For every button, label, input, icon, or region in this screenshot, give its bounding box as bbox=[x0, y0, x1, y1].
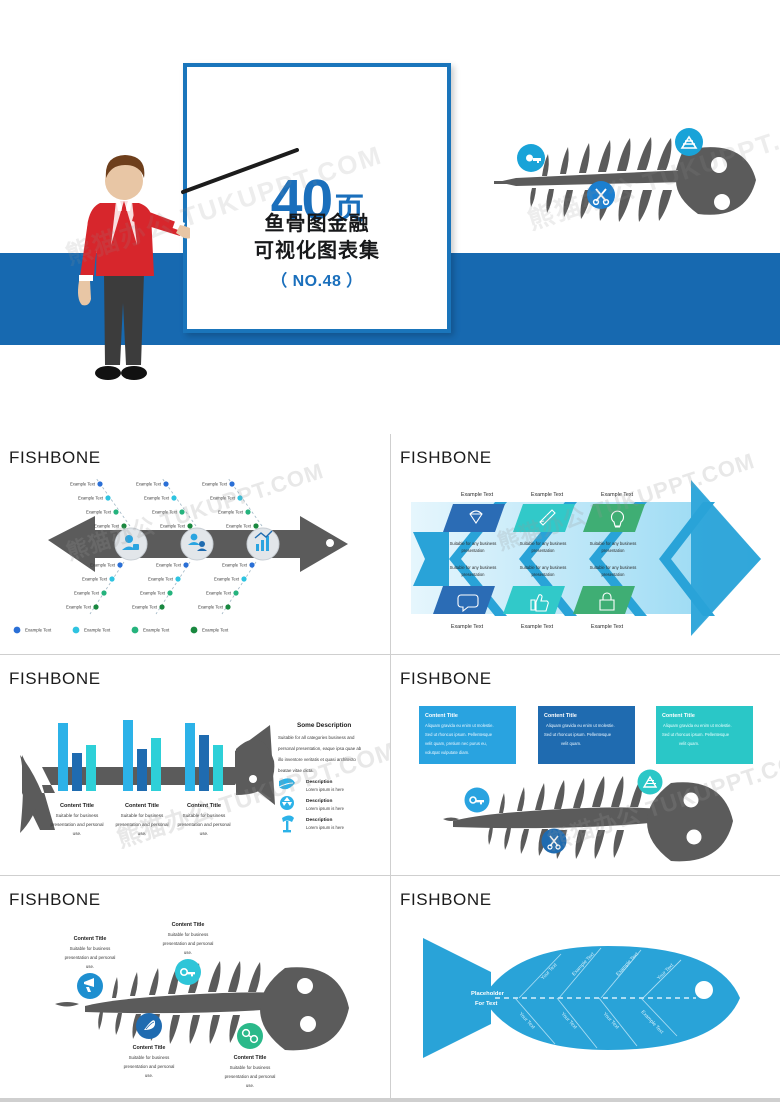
svg-text:Suitable for any business: Suitable for any business bbox=[590, 565, 637, 570]
svg-text:Example Text: Example Text bbox=[218, 510, 244, 515]
svg-text:Example Text: Example Text bbox=[461, 492, 494, 498]
svg-text:Suitable for all categories: Suitable for all categories business and bbox=[278, 735, 355, 740]
megaphone-icon bbox=[77, 973, 103, 999]
svg-text:Example Text: Example Text bbox=[206, 591, 232, 596]
slide-fishbone-four-callouts[interactable]: FISHBONE bbox=[0, 876, 390, 1098]
svg-text:beatae vitae dicta.: beatae vitae dicta. bbox=[278, 768, 314, 773]
svg-text:Example Text: Example Text bbox=[94, 524, 120, 529]
hero-number-label: （ NO.48 ） bbox=[187, 267, 447, 291]
svg-text:Content Title: Content Title bbox=[60, 803, 94, 809]
svg-text:Example Text: Example Text bbox=[601, 492, 634, 498]
slide-5-graphic: Content Title Suitable for business pres… bbox=[0, 876, 390, 1098]
svg-text:Example Text: Example Text bbox=[140, 591, 166, 596]
leaf-icon bbox=[136, 1013, 162, 1039]
svg-text:Example Text: Example Text bbox=[78, 496, 104, 501]
svg-text:Suitable for any business: Suitable for any business bbox=[590, 541, 637, 546]
svg-text:Example Text: Example Text bbox=[202, 628, 229, 633]
svg-text:Example Text: Example Text bbox=[82, 577, 108, 582]
svg-text:Example Text: Example Text bbox=[86, 510, 112, 515]
faucet-icon bbox=[282, 816, 294, 833]
svg-text:Content Title: Content Title bbox=[74, 936, 107, 942]
svg-text:volutpat vulputate diam.: volutpat vulputate diam. bbox=[425, 750, 469, 755]
users-group-icon bbox=[181, 528, 213, 560]
svg-text:presentation and personal: presentation and personal bbox=[115, 822, 168, 827]
key-icon bbox=[465, 788, 490, 813]
svg-text:presentation and personal: presentation and personal bbox=[50, 822, 103, 827]
svg-text:Content Title: Content Title bbox=[544, 713, 577, 719]
svg-text:presentation: presentation bbox=[461, 548, 485, 553]
svg-text:presentation: presentation bbox=[461, 572, 485, 577]
svg-text:Example Text: Example Text bbox=[521, 624, 554, 630]
svg-text:Example Text: Example Text bbox=[136, 482, 162, 487]
svg-text:Suitable for any business: Suitable for any business bbox=[520, 541, 567, 546]
svg-text:use.: use. bbox=[138, 831, 147, 836]
pyramid-icon bbox=[638, 770, 663, 795]
svg-text:Content Title: Content Title bbox=[172, 922, 205, 928]
svg-text:velit quam, pretium nec pu: velit quam, pretium nec purus eu, bbox=[425, 741, 487, 746]
svg-text:Lorem ipsum is here: Lorem ipsum is here bbox=[306, 825, 345, 830]
svg-text:Suitable for business: Suitable for business bbox=[129, 1055, 171, 1060]
svg-text:Aliquam gravida eu enim ut mol: Aliquam gravida eu enim ut molestie. bbox=[663, 723, 732, 728]
svg-text:Suitable for business: Suitable for business bbox=[183, 813, 226, 818]
hero-title-line2: 可视化图表集 bbox=[187, 234, 447, 263]
svg-text:Suitable for any business: Suitable for any business bbox=[520, 565, 567, 570]
svg-text:Placeholder: Placeholder bbox=[471, 991, 505, 997]
slide-fishbone-three-cards[interactable]: FISHBONE 熊猫办公 TUKUPPT.COM Content Title … bbox=[391, 655, 780, 875]
svg-text:Aliquam gravida eu enim ut mol: Aliquam gravida eu enim ut molestie. bbox=[546, 723, 615, 728]
svg-text:Example Text: Example Text bbox=[210, 496, 236, 501]
svg-text:Example Text: Example Text bbox=[226, 524, 252, 529]
svg-text:presentation: presentation bbox=[601, 548, 625, 553]
slide-grid: FISHBONE 熊猫办公 TUKUPPT.COM Example Text E… bbox=[0, 434, 780, 1102]
svg-text:personal presentation, eaque i: personal presentation, eaque ipsa quae a… bbox=[278, 746, 362, 751]
svg-text:use.: use. bbox=[145, 1073, 153, 1078]
svg-text:use.: use. bbox=[184, 950, 192, 955]
svg-text:Aliquam gravida eu enim ut: Aliquam gravida eu enim ut molestie. bbox=[425, 723, 494, 728]
svg-text:Example Text: Example Text bbox=[156, 563, 182, 568]
recycle-icon bbox=[280, 796, 294, 810]
svg-text:Example Text: Example Text bbox=[25, 628, 52, 633]
svg-text:Sed ut rhoncus ipsum. Pellente: Sed ut rhoncus ipsum. Pellentesque bbox=[544, 732, 612, 737]
svg-text:presentation and personal: presentation and personal bbox=[225, 1074, 276, 1079]
svg-text:Example Text: Example Text bbox=[70, 482, 96, 487]
svg-text:velit quam.: velit quam. bbox=[679, 741, 699, 746]
slide-1-graphic: Example Text Example Text Example Text E… bbox=[0, 434, 390, 654]
svg-text:Suitable for business: Suitable for business bbox=[70, 946, 112, 951]
svg-text:Example Text: Example Text bbox=[144, 496, 170, 501]
svg-text:For Text: For Text bbox=[475, 1001, 498, 1007]
key-icon bbox=[175, 959, 201, 985]
scissors-icon bbox=[587, 181, 615, 209]
svg-text:presentation: presentation bbox=[531, 548, 555, 553]
scissors-icon bbox=[542, 829, 567, 854]
pointer-stick bbox=[175, 148, 305, 198]
svg-text:Suitable for business: Suitable for business bbox=[168, 932, 210, 937]
pyramid-icon bbox=[675, 128, 703, 156]
svg-text:Description: Description bbox=[306, 817, 332, 823]
svg-text:presentation and personal: presentation and personal bbox=[65, 955, 116, 960]
slide-6-graphic: Placeholder For Text Your Text Example T… bbox=[391, 876, 780, 1098]
slide-fishbone-bar-chart[interactable]: FISHBONE 熊猫办公 TUKUPPT.COM Content Title bbox=[0, 655, 390, 875]
svg-text:Lorem ipsum is here: Lorem ipsum is here bbox=[306, 806, 345, 811]
svg-text:Some Description: Some Description bbox=[297, 722, 351, 729]
slide-4-graphic: Content Title Aliquam gravida eu enim ut… bbox=[391, 655, 780, 875]
svg-text:Content Title: Content Title bbox=[187, 803, 221, 809]
leaf-icon bbox=[279, 778, 295, 789]
slide-2-graphic: Example Text Suitable for any business p… bbox=[391, 434, 780, 654]
svg-text:presentation: presentation bbox=[601, 572, 625, 577]
svg-text:Description: Description bbox=[306, 798, 332, 804]
svg-text:Lorem ipsum is here: Lorem ipsum is here bbox=[306, 787, 345, 792]
user-profile-icon bbox=[115, 528, 147, 560]
svg-text:Example Text: Example Text bbox=[84, 628, 111, 633]
svg-text:Example Text: Example Text bbox=[451, 624, 484, 630]
svg-text:Example Text: Example Text bbox=[198, 605, 224, 610]
svg-text:Content Title: Content Title bbox=[125, 803, 159, 809]
svg-text:Example Text: Example Text bbox=[90, 563, 116, 568]
svg-text:Suitable for business: Suitable for business bbox=[121, 813, 164, 818]
svg-text:Example Text: Example Text bbox=[591, 624, 624, 630]
svg-text:Example Text: Example Text bbox=[160, 524, 186, 529]
svg-text:Example Text: Example Text bbox=[531, 492, 564, 498]
svg-text:use.: use. bbox=[246, 1083, 254, 1088]
svg-text:Suitable for business: Suitable for business bbox=[56, 813, 99, 818]
svg-text:use.: use. bbox=[73, 831, 82, 836]
slide-fishbone-blue-fish[interactable]: FISHBONE Placeholde bbox=[391, 876, 780, 1098]
svg-text:Suitable for business: Suitable for business bbox=[230, 1065, 272, 1070]
svg-text:Content Title: Content Title bbox=[425, 713, 458, 719]
svg-text:Sed ut rhoncus ipsum. Pell: Sed ut rhoncus ipsum. Pellentesque bbox=[425, 732, 493, 737]
slide-fishbone-arrow-parallelograms[interactable]: FISHBONE 熊猫办公 TUKUPPT.COM bbox=[391, 434, 780, 654]
svg-text:illo inventore veritatis et: illo inventore veritatis et quasi archit… bbox=[278, 757, 356, 762]
svg-text:Content Title: Content Title bbox=[133, 1045, 166, 1051]
svg-text:Content Title: Content Title bbox=[662, 713, 695, 719]
svg-text:Example Text: Example Text bbox=[74, 591, 100, 596]
hero-title-line1: 鱼骨图金融 bbox=[187, 207, 447, 236]
svg-text:Description: Description bbox=[306, 779, 332, 785]
bar-chart-growth-icon bbox=[247, 528, 279, 560]
hero-fishbone-graphic bbox=[486, 120, 766, 240]
svg-text:presentation and personal: presentation and personal bbox=[124, 1064, 175, 1069]
svg-text:presentation: presentation bbox=[531, 572, 555, 577]
svg-text:Suitable for any business: Suitable for any business bbox=[450, 541, 497, 546]
svg-text:Example Text: Example Text bbox=[152, 510, 178, 515]
svg-text:Example Text: Example Text bbox=[148, 577, 174, 582]
svg-text:presentation and personal: presentation and personal bbox=[177, 822, 230, 827]
svg-text:Sed ut rhoncus ipsum. Pellente: Sed ut rhoncus ipsum. Pellentesque bbox=[662, 732, 730, 737]
svg-text:velit quam.: velit quam. bbox=[561, 741, 581, 746]
svg-text:Example Text: Example Text bbox=[214, 577, 240, 582]
hero-banner: 熊猫办公 TUKUPPT.COM 熊猫办公 TUKUPPT.COM bbox=[0, 0, 780, 434]
svg-text:use.: use. bbox=[86, 964, 94, 969]
chain-link-icon bbox=[237, 1023, 263, 1049]
svg-text:presentation and personal: presentation and personal bbox=[163, 941, 214, 946]
svg-text:Example Text: Example Text bbox=[132, 605, 158, 610]
slide-3-graphic: Content Title Suitable for business pres… bbox=[0, 655, 390, 875]
svg-text:Example Text: Example Text bbox=[143, 628, 170, 633]
slide-fishbone-dot-branches[interactable]: FISHBONE 熊猫办公 TUKUPPT.COM Example Text E… bbox=[0, 434, 390, 654]
svg-text:Example Text: Example Text bbox=[202, 482, 228, 487]
svg-text:Content Title: Content Title bbox=[234, 1055, 267, 1061]
svg-text:Example Text: Example Text bbox=[222, 563, 248, 568]
svg-text:Example Text: Example Text bbox=[66, 605, 92, 610]
hero-title-card: 40页 鱼骨图金融 可视化图表集 （ NO.48 ） bbox=[183, 63, 451, 333]
svg-text:Suitable for any business: Suitable for any business bbox=[450, 565, 497, 570]
presenter-figure bbox=[70, 145, 190, 395]
svg-text:use.: use. bbox=[200, 831, 209, 836]
